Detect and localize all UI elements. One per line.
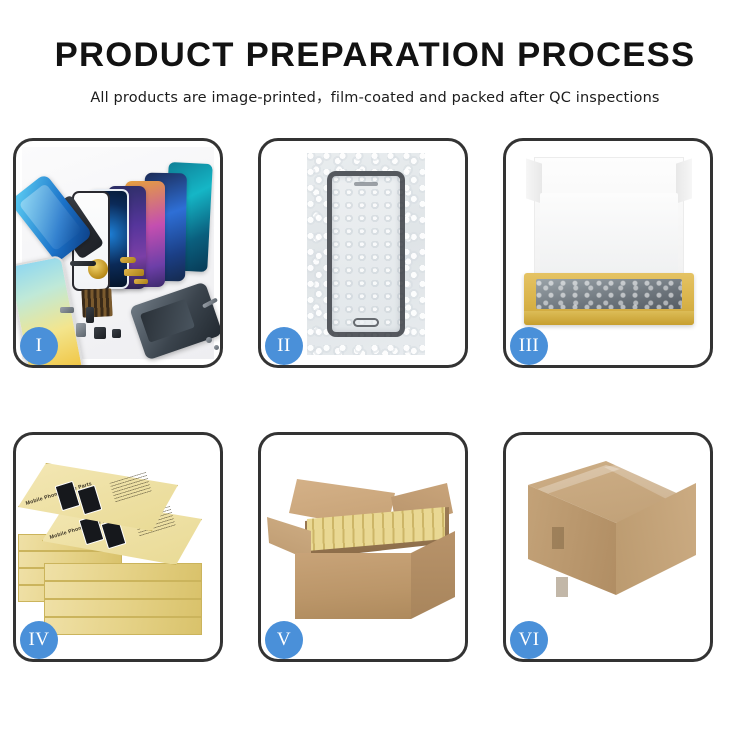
power-flex-icon	[86, 307, 94, 323]
page-header: PRODUCT PREPARATION PROCESS All products…	[0, 0, 750, 107]
bracket-icon	[60, 307, 74, 313]
home-button-icon	[353, 318, 379, 327]
step-panel-4: Mobile Phone Spare Parts Mobile Phone Sp…	[13, 432, 223, 662]
screw-icon	[206, 337, 212, 343]
volume-flex-icon	[134, 279, 148, 284]
process-steps-grid: I II III	[13, 138, 737, 662]
foam-padding-icon	[540, 193, 678, 271]
vibrator-icon	[112, 329, 121, 338]
step-badge-6: VI	[510, 621, 548, 659]
step-badge-2: II	[265, 327, 303, 365]
carton-seam-icon	[552, 527, 564, 549]
button-flex-icon	[124, 269, 144, 276]
camera-module-icon	[94, 327, 106, 339]
step-panel-5: V	[258, 432, 468, 662]
step-badge-4: IV	[20, 621, 58, 659]
carton-front-panel-icon	[295, 553, 411, 619]
page-subtitle: All products are image-printed，film-coat…	[0, 75, 750, 107]
step-badge-5: V	[265, 621, 303, 659]
step-panel-2: II	[258, 138, 468, 368]
stacked-box-icon	[44, 599, 202, 617]
bubble-wrap-icon	[307, 153, 425, 355]
wrapped-screen-icon	[327, 171, 405, 337]
stacked-box-icon	[44, 563, 202, 581]
step-panel-1: I	[13, 138, 223, 368]
step-panel-3: III	[503, 138, 713, 368]
sim-tray-icon	[76, 323, 86, 337]
packed-screen-icon	[536, 279, 682, 309]
box-tray-icon	[524, 273, 694, 325]
carton-seam-icon	[556, 577, 568, 597]
box-flap-right-icon	[676, 158, 692, 203]
step-badge-3: III	[510, 327, 548, 365]
earpiece-icon	[354, 182, 378, 186]
box-tray-edge-icon	[524, 311, 694, 325]
flex-cable-icon	[120, 257, 136, 263]
step-panel-6: VI	[503, 432, 713, 662]
step-badge-1: I	[20, 327, 58, 365]
retail-box-open-icon	[518, 151, 700, 341]
screw-small-icon	[214, 345, 219, 350]
stacked-box-icon	[44, 581, 202, 599]
antenna-strip-icon	[70, 261, 96, 266]
page-title: PRODUCT PREPARATION PROCESS	[0, 0, 750, 75]
stacked-box-icon	[44, 617, 202, 635]
